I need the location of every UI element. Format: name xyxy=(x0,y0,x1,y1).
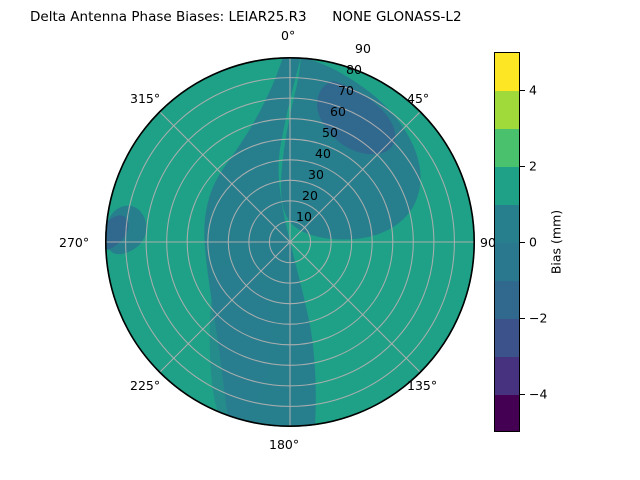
radial-tick-90: 90 xyxy=(355,41,371,56)
angular-tick-270: 270° xyxy=(59,235,89,250)
colorbar-band-8 xyxy=(495,357,519,395)
colorbar-band-5 xyxy=(495,243,519,281)
angular-tick-45: 45° xyxy=(407,91,429,106)
colorbar-band-9 xyxy=(495,395,519,432)
colorbar-axis-label: Bias (mm) xyxy=(549,210,564,274)
radial-tick-70: 70 xyxy=(338,83,354,98)
angular-tick-0: 0° xyxy=(281,28,295,43)
colorbar-ticklabel-neg2: −2 xyxy=(529,311,547,326)
angular-tick-315: 315° xyxy=(130,91,160,106)
colorbar-band-0 xyxy=(495,53,519,91)
colorbar-tick-4 xyxy=(520,90,525,91)
radial-tick-50: 50 xyxy=(322,125,338,140)
colorbar-band-6 xyxy=(495,281,519,319)
page-title: Delta Antenna Phase Biases: LEIAR25.R3 N… xyxy=(30,9,462,25)
colorbar-tick-2 xyxy=(520,166,525,167)
colorbar-band-1 xyxy=(495,91,519,129)
angular-tick-225: 225° xyxy=(130,378,160,393)
colorbar-gradient xyxy=(494,52,520,432)
colorbar-tick-neg2 xyxy=(520,318,525,319)
colorbar-band-2 xyxy=(495,129,519,167)
angular-tick-180: 180° xyxy=(269,437,299,452)
polar-spine xyxy=(105,57,475,427)
radial-tick-10: 10 xyxy=(296,209,312,224)
figure-canvas: Delta Antenna Phase Biases: LEIAR25.R3 N… xyxy=(0,0,640,480)
polar-plot[interactable]: 10 20 30 40 50 60 70 80 90 0° 45° 90 135… xyxy=(105,57,475,427)
radial-tick-60: 60 xyxy=(330,104,346,119)
radial-tick-40: 40 xyxy=(315,146,331,161)
colorbar-band-4 xyxy=(495,205,519,243)
colorbar-tick-0 xyxy=(520,242,525,243)
colorbar-band-7 xyxy=(495,319,519,357)
radial-tick-80: 80 xyxy=(346,62,362,77)
colorbar-ticklabel-2: 2 xyxy=(529,159,537,174)
colorbar-ticklabel-neg4: −4 xyxy=(529,387,547,402)
radial-tick-20: 20 xyxy=(302,188,318,203)
colorbar-ticklabel-4: 4 xyxy=(529,83,537,98)
colorbar-tick-neg4 xyxy=(520,394,525,395)
colorbar-band-3 xyxy=(495,167,519,205)
angular-tick-135: 135° xyxy=(407,378,437,393)
colorbar-ticklabel-0: 0 xyxy=(529,235,537,250)
colorbar[interactable]: 4 2 0 −2 −4 xyxy=(494,52,520,432)
radial-tick-30: 30 xyxy=(308,167,324,182)
